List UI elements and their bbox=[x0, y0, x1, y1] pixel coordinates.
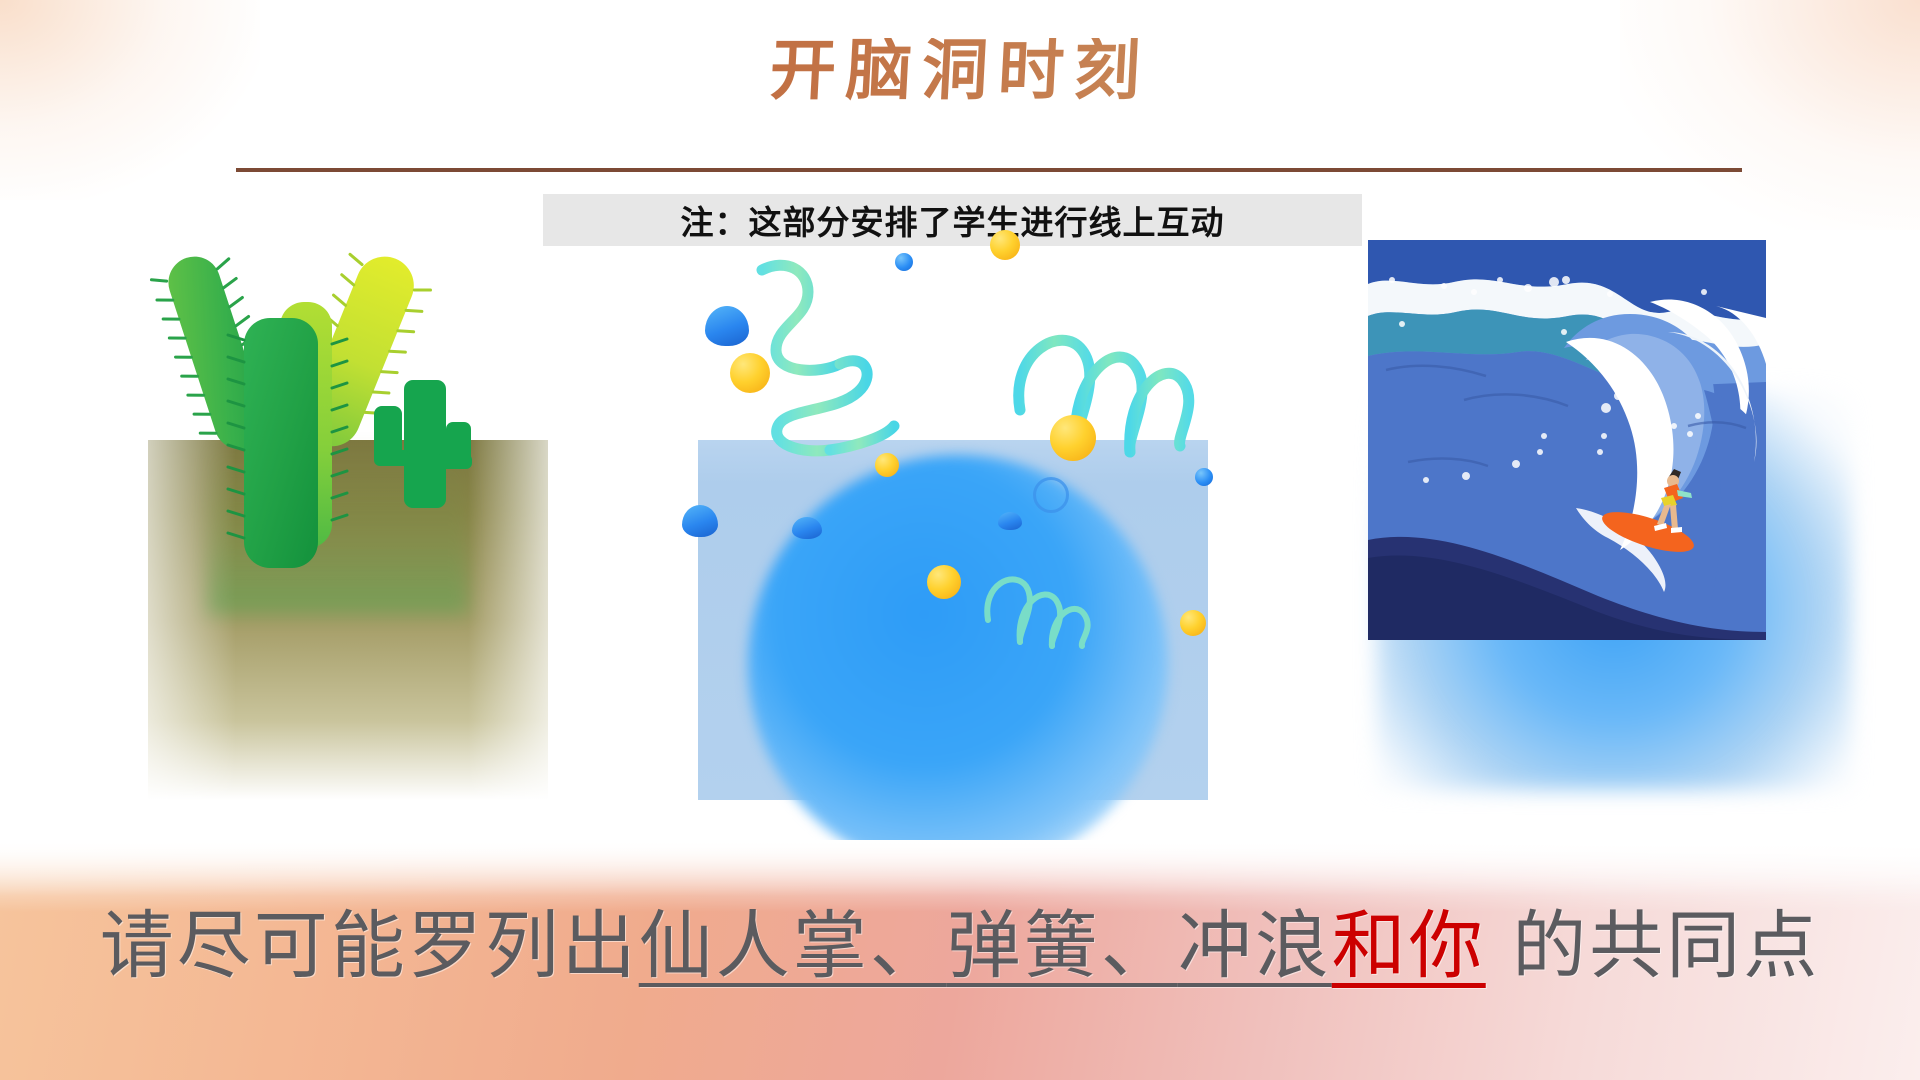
slide-canvas: 开脑洞时刻 注：这部分安排了学生进行线上互动 bbox=[0, 0, 1920, 1080]
blue-cone bbox=[682, 505, 718, 537]
prompt-highlight-you: 和你 bbox=[1332, 903, 1486, 989]
prompt-item-cactus: 仙人掌、 bbox=[639, 903, 947, 989]
prompt-lead: 请尽可能罗列出 bbox=[100, 903, 639, 989]
spring-illustration bbox=[690, 240, 1230, 800]
yellow-sphere bbox=[730, 353, 770, 393]
corner-tint-top-right bbox=[1620, 0, 1920, 230]
yellow-sphere bbox=[875, 453, 899, 477]
yellow-sphere bbox=[990, 230, 1020, 260]
prompt-tail: 的共同点 bbox=[1486, 903, 1821, 989]
surf-illustration bbox=[1332, 240, 1852, 800]
illustration-row bbox=[0, 240, 1920, 800]
cactus-reflection bbox=[208, 444, 468, 614]
bottom-gradient-band: 请尽可能罗列出仙人掌、弹簧、冲浪和你 的共同点 bbox=[0, 840, 1920, 1080]
blue-cone bbox=[792, 517, 822, 539]
title-divider-rule bbox=[236, 168, 1742, 172]
prompt-text: 请尽可能罗列出仙人掌、弹簧、冲浪和你 的共同点 bbox=[0, 886, 1920, 993]
slide-title: 开脑洞时刻 bbox=[0, 38, 1920, 104]
yellow-sphere bbox=[1180, 610, 1206, 636]
prompt-item-surf: 冲浪 bbox=[1178, 903, 1332, 989]
note-text: 注：这部分安排了学生进行线上互动 bbox=[681, 196, 1225, 244]
spring-coils-svg bbox=[690, 240, 1230, 800]
note-banner: 注：这部分安排了学生进行线上互动 bbox=[543, 194, 1362, 246]
prompt-item-spring: 弹簧、 bbox=[947, 903, 1178, 989]
blue-sphere bbox=[895, 253, 913, 271]
blue-cone bbox=[998, 512, 1022, 530]
surf-scene-svg bbox=[1368, 240, 1766, 640]
yellow-sphere bbox=[1050, 415, 1096, 461]
yellow-sphere bbox=[927, 565, 961, 599]
cactus-illustration bbox=[148, 240, 558, 800]
blue-ring bbox=[1033, 477, 1069, 513]
blue-sphere bbox=[1195, 468, 1213, 486]
